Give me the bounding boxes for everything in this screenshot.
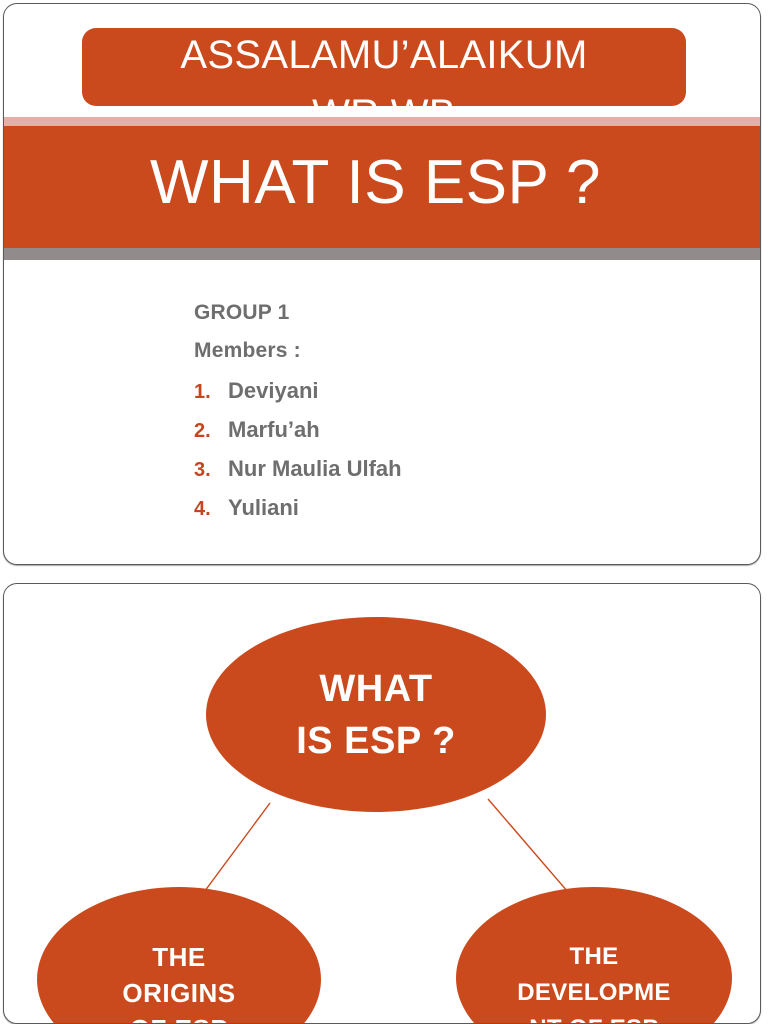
member-list: 1. Deviyani 2. Marfu’ah 3. Nur Maulia Ul… (194, 372, 402, 528)
title-banner: WHAT IS ESP ? (4, 126, 761, 248)
list-item-label: Marfu’ah (228, 411, 320, 448)
list-item-number: 4. (194, 491, 228, 528)
list-item-number: 3. (194, 452, 228, 489)
list-item: 1. Deviyani (194, 372, 402, 411)
group-info-block: GROUP 1 Members : 1. Deviyani 2. Marfu’a… (194, 294, 402, 528)
list-item-number: 1. (194, 374, 228, 411)
esp-concept-diagram: WHAT IS ESP ? THE ORIGINS OF ESP THE DEV… (4, 584, 761, 1024)
banner-pink-stripe (4, 117, 761, 126)
list-item: 3. Nur Maulia Ulfah (194, 450, 402, 489)
page-title: WHAT IS ESP ? (150, 144, 601, 222)
banner-gray-stripe (4, 248, 761, 260)
slide-diagram[interactable]: WHAT IS ESP ? THE ORIGINS OF ESP THE DEV… (3, 583, 761, 1024)
greeting-box: ASSALAMU’ALAIKUM WR.WB (82, 28, 686, 106)
list-item: 2. Marfu’ah (194, 411, 402, 450)
list-item: 4. Yuliani (194, 489, 402, 528)
list-item-label: Nur Maulia Ulfah (228, 450, 402, 487)
list-item-label: Yuliani (228, 489, 299, 526)
group-label: GROUP 1 (194, 294, 402, 332)
greeting-text: ASSALAMU’ALAIKUM WR.WB (82, 28, 686, 106)
diagram-node-root[interactable]: WHAT IS ESP ? (206, 617, 546, 812)
slide-title[interactable]: ASSALAMU’ALAIKUM WR.WB WHAT IS ESP ? GRO… (3, 3, 761, 565)
members-label: Members : (194, 332, 402, 370)
list-item-number: 2. (194, 413, 228, 450)
list-item-label: Deviyani (228, 372, 319, 409)
